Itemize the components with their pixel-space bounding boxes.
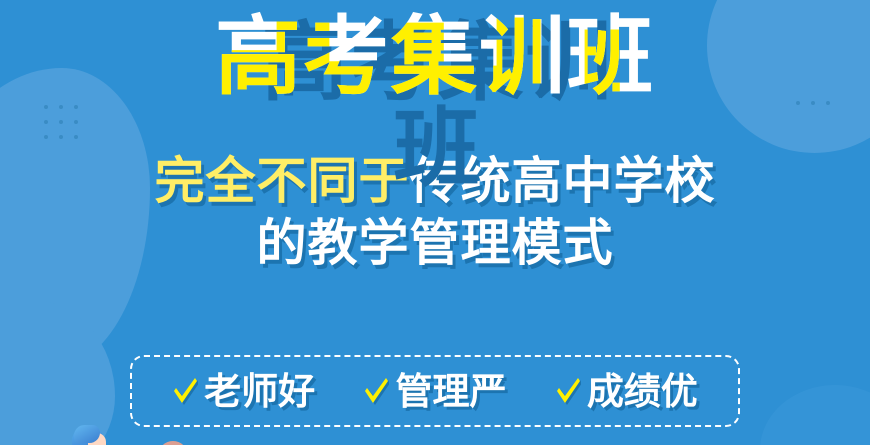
feature-label-2: 管理严 [395,373,506,410]
subtitle-line-2: 的教学管理模式 [0,212,870,274]
blob-shape-left-lower [0,300,115,445]
circle-shape-bottom-right [760,385,870,445]
feature-item-3: 成绩优 [555,373,698,410]
feature-list: 老师好 管理严 成绩优 [130,355,740,427]
dot-row-icon [796,100,830,106]
check-icon [363,376,389,406]
promo-banner: 高考集训班 高考集训班 高考集训班 完全不同于传统高中学校 的教学管理模式 老师… [0,0,870,445]
feature-label-3: 成绩优 [587,373,698,410]
feature-label-1: 老师好 [204,373,315,410]
student-illustration-secondary [158,439,192,445]
feature-item-2: 管理严 [363,373,506,410]
student-illustration [60,413,120,445]
headline-wrapper: 高考集训班 高考集训班 高考集训班 [215,14,655,100]
check-icon [172,376,198,406]
check-icon [555,376,581,406]
page-title: 高考集训班 高考集训班 高考集训班 [0,14,870,100]
dot-grid-icon [38,100,84,144]
subtitle-line-2-rest: 的教学管理模式 [257,214,614,272]
feature-item-1: 老师好 [172,373,315,410]
